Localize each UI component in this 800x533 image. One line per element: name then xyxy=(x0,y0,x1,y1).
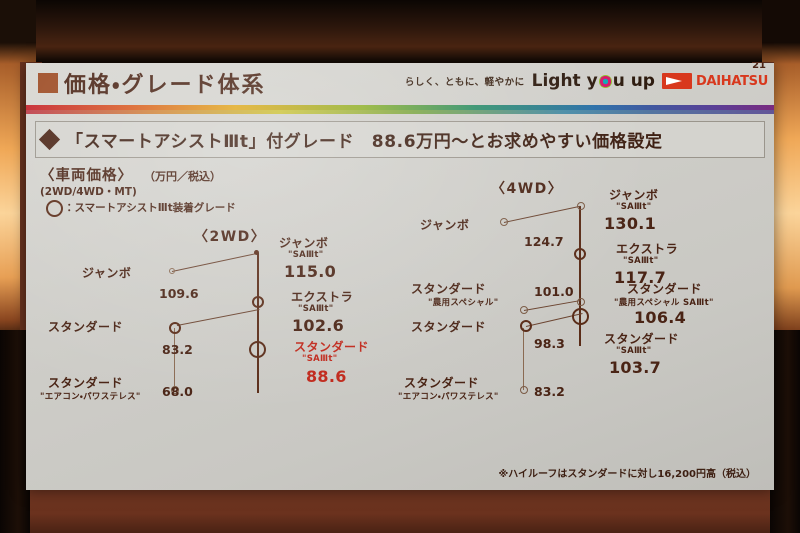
price-structure-diagram: 〈車両価格〉 （万円／税込） (2WD/4WD・MT) ：スマートアシストⅢt装… xyxy=(26,158,774,488)
price-4wd-noyou: 101.0 xyxy=(534,284,574,299)
node-4wd-standard xyxy=(520,320,532,332)
price-2wd-standard-sa: 88.6 xyxy=(306,367,347,386)
label-4wd-jumbo-sa-grade: ジャンボ xyxy=(609,186,658,203)
price-2wd-standard-base: 68.0 xyxy=(162,384,193,399)
price-4wd-jumbo: 124.7 xyxy=(524,234,564,249)
presentation-slide: 価格・グレード体系 らしく、ともに、軽やかに Light y u up DAIH… xyxy=(26,63,774,490)
title-square-marker xyxy=(38,73,58,93)
label-4wd-extra-sa-variant: "SAⅢt" xyxy=(623,256,658,266)
label-4wd-standard-base-variant: "エアコン・パワステレス" xyxy=(398,390,499,402)
rainbow-divider-secondary xyxy=(26,110,774,114)
diamond-bullet-icon xyxy=(39,129,60,150)
link-4wd-noyou xyxy=(524,300,581,311)
link-2wd-standard-base xyxy=(174,328,175,390)
node-4wd-extra-sa xyxy=(574,248,586,260)
section-2wd-heading: 〈2WD〉 xyxy=(194,226,266,246)
legend-label: ：スマートアシストⅢt装着グレード xyxy=(64,200,236,215)
price-4wd-standard-base: 83.2 xyxy=(534,384,565,399)
label-4wd-standard-sa-variant: "SAⅢt" xyxy=(616,346,651,356)
label-2wd-extra-sa-variant: "SAⅢt" xyxy=(298,304,333,314)
label-4wd-standard-sa-grade: スタンダード xyxy=(604,330,679,347)
price-4wd-standard-sa: 103.7 xyxy=(609,358,661,377)
label-4wd-standard-base: スタンダード xyxy=(404,374,479,391)
node-4wd-standard-sa xyxy=(572,308,589,325)
brand-tagline: らしく、ともに、軽やかに xyxy=(405,74,525,88)
page-number: 21 xyxy=(752,63,766,71)
headline-text: 「スマートアシストⅢt」付グレード 88.6万円～とお求めやすい価格設定 xyxy=(66,127,663,152)
label-4wd-standard: スタンダード xyxy=(411,318,486,335)
link-2wd-standard xyxy=(177,309,260,326)
node-4wd-noyou-sa xyxy=(577,298,585,306)
link-2wd-jumbo xyxy=(172,253,258,273)
brand-block: らしく、ともに、軽やかに Light y u up DAIHATSU xyxy=(405,71,768,91)
trunk-2wd xyxy=(257,253,259,393)
page-title: 価格・グレード体系 xyxy=(64,67,265,99)
link-4wd-standard-base xyxy=(523,328,524,390)
node-2wd-jumbo xyxy=(169,268,175,274)
label-4wd-noyou-sa-variant: "農用スペシャル SAⅢt" xyxy=(614,296,714,308)
daihatsu-logo: DAIHATSU xyxy=(662,73,768,89)
label-4wd-extra-sa-grade: エクストラ xyxy=(616,240,678,257)
node-4wd-standard-base xyxy=(520,386,528,394)
legend-ring-icon xyxy=(46,200,63,217)
price-2wd-extra-sa: 102.6 xyxy=(292,316,344,335)
label-4wd-noyou-variant: "農用スペシャル" xyxy=(428,296,498,308)
label-2wd-standard-base: スタンダード xyxy=(48,374,123,391)
label-2wd-standard-sa-grade: スタンダード xyxy=(294,338,369,355)
label-2wd-jumbo-sa-variant: "SAⅢt" xyxy=(288,250,323,260)
label-2wd-jumbo: ジャンボ xyxy=(82,264,131,281)
slide-header: 価格・グレード体系 らしく、ともに、軽やかに Light y u up DAIH… xyxy=(26,63,774,105)
daihatsu-wordmark: DAIHATSU xyxy=(696,74,768,89)
node-2wd-standard-sa xyxy=(249,341,266,358)
label-2wd-standard: スタンダード xyxy=(48,318,123,335)
headline-banner: 「スマートアシストⅢt」付グレード 88.6万円～とお求めやすい価格設定 xyxy=(35,121,765,158)
caption-title: 〈車両価格〉 xyxy=(40,164,133,185)
drape-right xyxy=(770,330,800,533)
label-2wd-standard-base-variant: "エアコン・パワステレス" xyxy=(40,390,141,402)
campaign-logo: Light y u up xyxy=(532,71,655,91)
label-4wd-noyou: スタンダード xyxy=(411,280,486,297)
campaign-o-icon xyxy=(599,75,612,88)
node-2wd-jumbo-sa xyxy=(254,250,259,255)
price-2wd-jumbo-sa: 115.0 xyxy=(284,262,336,281)
link-4wd-jumbo xyxy=(504,206,581,223)
campaign-text-right: u up xyxy=(613,71,655,91)
label-2wd-extra-sa-grade: エクストラ xyxy=(291,288,353,305)
caption-unit: （万円／税込） xyxy=(144,168,221,184)
price-4wd-noyou-sa: 106.4 xyxy=(634,308,686,327)
caption-drivetrain: (2WD/4WD・MT) xyxy=(40,184,137,199)
footnote: ※ハイルーフはスタンダードに対し16,200円高（税込） xyxy=(498,465,756,480)
node-4wd-noyou xyxy=(520,306,528,314)
node-4wd-jumbo-sa xyxy=(577,202,585,210)
price-4wd-standard: 98.3 xyxy=(534,336,565,351)
price-2wd-jumbo: 109.6 xyxy=(159,286,199,301)
label-4wd-jumbo-sa-variant: "SAⅢt" xyxy=(616,202,651,212)
label-2wd-standard-sa-variant: "SAⅢt" xyxy=(302,354,337,364)
daihatsu-mark-icon xyxy=(662,73,692,89)
trunk-4wd xyxy=(579,206,581,346)
wall-lower xyxy=(0,490,800,533)
node-4wd-jumbo xyxy=(500,218,508,226)
price-4wd-jumbo-sa: 130.1 xyxy=(604,214,656,233)
label-4wd-noyou-sa-grade: スタンダード xyxy=(627,280,702,297)
node-2wd-standard xyxy=(169,322,181,334)
wall-upper xyxy=(0,0,800,62)
node-2wd-extra-sa xyxy=(252,296,264,308)
price-2wd-standard: 83.2 xyxy=(162,342,193,357)
campaign-text-left: Light y xyxy=(532,71,598,91)
label-4wd-jumbo: ジャンボ xyxy=(420,216,469,233)
label-2wd-jumbo-sa-grade: ジャンボ xyxy=(279,234,328,251)
section-4wd-heading: 〈4WD〉 xyxy=(491,178,563,198)
